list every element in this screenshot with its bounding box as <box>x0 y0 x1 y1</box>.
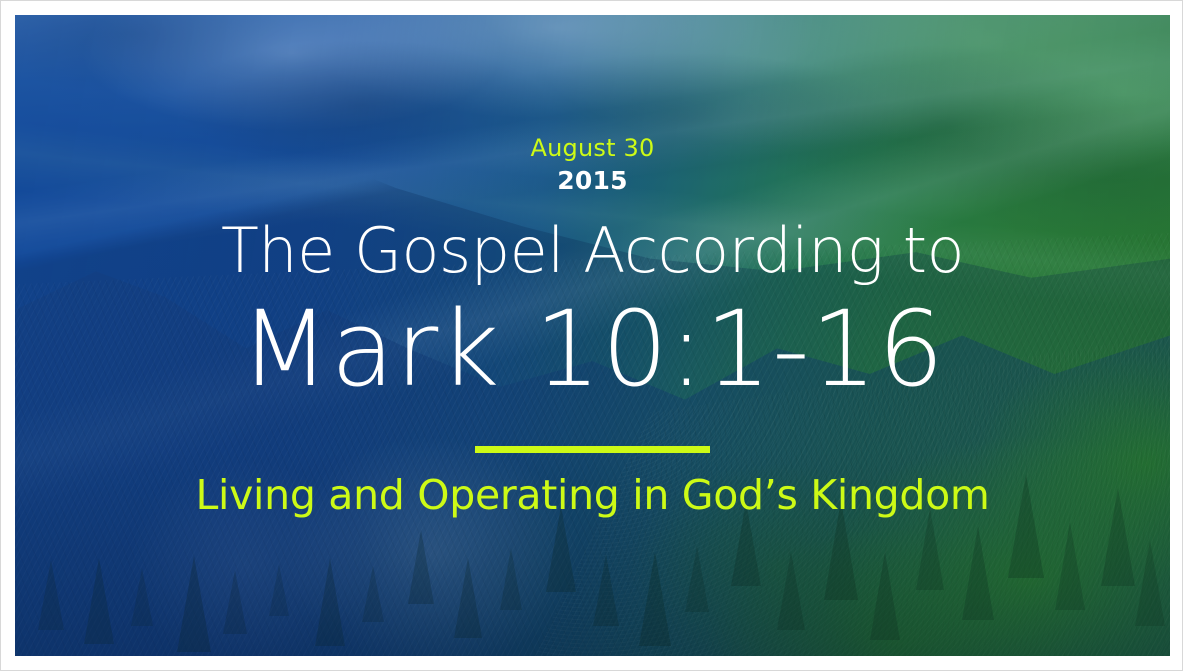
slide-content: August 30 2015 The Gospel According to M… <box>15 15 1170 656</box>
slide-title-reference: Mark 10:1-16 <box>15 297 1170 401</box>
slide-title-main: The Gospel According to <box>15 220 1170 282</box>
presentation-slide: August 30 2015 The Gospel According to M… <box>15 15 1170 656</box>
accent-divider-rule <box>475 446 710 453</box>
slide-date: August 30 <box>15 135 1170 163</box>
page-frame: August 30 2015 The Gospel According to M… <box>0 0 1183 671</box>
slide-subtitle: Living and Operating in God’s Kingdom <box>15 475 1170 516</box>
slide-year: 2015 <box>15 167 1170 196</box>
